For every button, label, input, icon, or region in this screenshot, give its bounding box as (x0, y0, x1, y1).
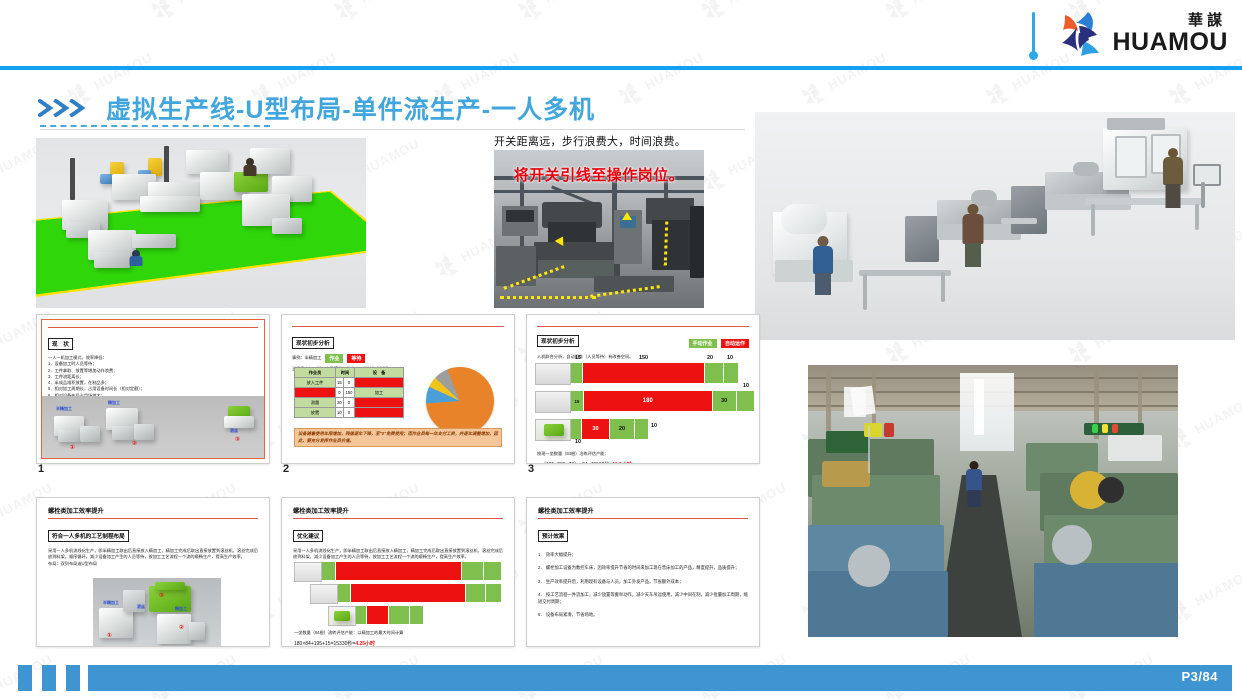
logo-stem-icon (1032, 12, 1035, 56)
thumbnail-number-3: 3 (528, 463, 534, 475)
thumb6-item: 1． 效率大幅提升； (538, 551, 748, 558)
thumb4-body: 采用一人多机流线化生产，即半精加工取出后直接放入精加工，精加工完成后取出直接放置… (48, 548, 258, 561)
thumb5-bar-row-1 (322, 562, 502, 580)
thumb2-tag-wait: 等待 (347, 354, 365, 363)
thumb4-3d-image: 半精加工 精加工 滚丝 ① ② ③ (93, 578, 221, 646)
thumb4-title: 螺栓类加工效率提升 (48, 506, 258, 515)
th: 时间 (336, 368, 355, 378)
u-shape-layout-3d-render (36, 138, 366, 308)
td: 20 (336, 398, 344, 408)
thumb3-bar-row-1 (571, 363, 739, 383)
thumb6-title: 螺栓类加工效率提升 (538, 506, 748, 515)
td (355, 408, 404, 418)
thumb1-mark: ② (132, 440, 137, 447)
formula-highlight: 4.25小时 (355, 641, 375, 647)
title-underline (40, 129, 745, 130)
thumb3-tag-manual: 手动作业 (689, 339, 717, 348)
thumb5-body: 采用一人多机流线化生产，即半精加工取出后直接放入精加工，精加工完成后取出直接放置… (293, 548, 503, 561)
thumb5-row-icon (328, 606, 356, 626)
header-accent-rule (0, 66, 1242, 70)
tick: 10 (743, 383, 749, 389)
thumb1-heading: 现 状 (48, 338, 73, 350)
thumb6-item: 3． 生产效率提升后，利用现有设备与人员，加工外发产品，节省额外成本； (538, 578, 748, 585)
seg: 15 (571, 391, 584, 411)
thumb6-item: 2． 螺栓加工设备为数控车床，因效率提升节省的时间来加工现在普床加工的产品，精度… (538, 564, 748, 571)
td: 15 (336, 378, 344, 388)
thumb2-tag-work: 作业 (325, 354, 343, 363)
chevrons-right-icon (38, 99, 90, 117)
td (295, 388, 336, 398)
table-row: 测量 20 0 (295, 398, 404, 408)
thumb4-mark: ① (107, 632, 112, 639)
thumb5-title: 螺栓类加工效率提升 (293, 506, 503, 515)
thumb1-label: 滚丝 (230, 428, 238, 434)
thumb3-bar-row-2: 15 180 30 (571, 391, 755, 411)
td: 放入工件 (295, 378, 336, 388)
thumb2-pie-chart (426, 367, 494, 435)
thumb6-heading: 预计效果 (538, 530, 568, 542)
thumb1-mark: ① (70, 444, 75, 451)
thumb5-conclusion: 一坐数量（84根）流转评估产能：以精加工的最大时间计算 (294, 630, 403, 636)
thumb3-row-icon (535, 391, 571, 413)
thumb6-item: 5． 设备布局紧凑，节省场地。 (538, 611, 748, 618)
tick: 150 (639, 355, 648, 361)
thumbnail-slide-1[interactable]: 现 状 一人一机加工模式，效率降低： 1．设备加工时人员等待； 2．工件拿取、放… (36, 314, 270, 464)
title-dashed-rule (40, 125, 270, 127)
thumbnail-slide-6[interactable]: 螺栓类加工效率提升 预计效果 1． 效率大幅提升； 2． 螺栓加工设备为数控车床… (526, 497, 760, 647)
thumb5-bar-row-3 (356, 606, 424, 624)
thumb2-table: 作业员 时间 设 备 放入工件 15 0 0 150 加工 测量 (294, 367, 404, 418)
tick: 15 (575, 355, 581, 361)
thumb4-layout-line: 布局：双列布局或U型布局 (48, 561, 258, 567)
td: 0 (343, 378, 354, 388)
thumb3-formula: （195+235+70）×84=42000秒=11.6小时 (541, 461, 632, 464)
footer-bar: P3/84 (88, 665, 1232, 691)
seg: 180 (584, 391, 713, 411)
thumbnail-number-1: 1 (38, 463, 44, 475)
th: 作业员 (295, 368, 336, 378)
td: 0 (343, 398, 354, 408)
table-row: 放入工件 15 0 (295, 378, 404, 388)
tick: 10 (727, 355, 733, 361)
thumb3-row-icon (535, 419, 571, 441)
thumb3-row-icon (535, 363, 571, 385)
thumbnail-number-2: 2 (283, 463, 289, 475)
thumb1-label: 半精加工 (56, 406, 72, 412)
thumb4-label: 精加工 (175, 606, 187, 612)
thumb3-bar-row-3: 30 20 (571, 419, 649, 439)
thumbnail-slide-5[interactable]: 螺栓类加工效率提升 优化建议 采用一人多机流线化生产，即半精加工取出后直接放入精… (281, 497, 515, 647)
td: 150 (343, 388, 354, 398)
formula-highlight: 11.6小时 (612, 462, 631, 464)
td: 放置 (295, 408, 336, 418)
logo-english-name: HUAMOU (1113, 30, 1229, 55)
center-photo-overlay-text: 将开关引线至操作岗位。 (494, 164, 704, 185)
thumbnail-slide-3[interactable]: 现状初步分析 手动作业 自动运作 人机联合分析，自动运作（人员等待）有改善空间。… (526, 314, 760, 464)
seg: 20 (610, 419, 635, 439)
page-title-row: 虚拟生产线-U型布局-单件流生产-一人多机 (38, 90, 595, 126)
slide-footer: P3/84 (0, 665, 1242, 691)
thumb1-mark: ③ (235, 436, 240, 443)
page-number: P3/84 (1182, 669, 1218, 684)
thumb4-label: 滚丝 (137, 604, 145, 610)
thumb5-heading: 优化建议 (293, 530, 323, 542)
thumb2-case-label: 事例：半精加工 (292, 355, 321, 361)
thumb2-note: 设备随着使用年限增加，残值逐年下降，至"0"免费使用；而作业员每一年支付工资，并… (294, 428, 502, 447)
footer-tick-3 (66, 665, 80, 691)
footer-tick-2 (42, 665, 56, 691)
tick: 10 (651, 423, 657, 429)
thumb4-mark: ③ (159, 592, 164, 599)
thumb5-row-icon (294, 562, 322, 582)
td (355, 398, 404, 408)
thumb5-formula: 180×84+195+15=15330秒=4.25小时 (294, 640, 375, 647)
thumb3-heading: 现状初步分析 (537, 335, 579, 347)
virtual-production-line-3d-render (755, 112, 1235, 340)
thumb3-tag-auto: 自动运作 (721, 339, 749, 348)
td (355, 378, 404, 388)
thumb5-row-icon (310, 584, 338, 604)
table-row: 放置 10 0 (295, 408, 404, 418)
center-photo-caption: 开关距离远，步行浪费大，时间浪费。 (494, 133, 720, 149)
thumb4-mark: ② (179, 624, 184, 631)
brand-logo: 華謀 HUAMOU (1032, 6, 1229, 62)
thumb2-heading: 现状初步分析 (292, 337, 334, 349)
td: 加工 (355, 388, 404, 398)
seg: 30 (582, 419, 610, 439)
thumb1-3d-image: 半精加工 精加工 滚丝 ① ② ③ (42, 396, 264, 458)
logo-chinese-name: 華謀 (1113, 13, 1229, 28)
thumbnail-slide-4[interactable]: 螺栓类加工效率提升 符合一人多机的工艺制程布局 采用一人多机流线化生产，即半精加… (36, 497, 270, 647)
thumb4-label: 半精加工 (103, 600, 119, 606)
thumb1-label: 精加工 (108, 400, 120, 406)
td: 测量 (295, 398, 336, 408)
thumb4-heading: 符合一人多机的工艺制程布局 (48, 530, 129, 542)
formula-plain: （195+235+70）×84=42000秒= (541, 462, 612, 464)
seg: 30 (713, 391, 737, 411)
th: 设 备 (355, 368, 404, 378)
td: 10 (336, 408, 344, 418)
footer-tick-1 (18, 665, 32, 691)
thumbnail-slide-2[interactable]: 现状初步分析 事例：半精加工 作业 等待 当设备在加工时，人员等待，约占77%的… (281, 314, 515, 464)
thumb3-conclusion: 按现一坐数量（84根）冶练评估产能： (537, 451, 609, 457)
center-photo-press-line: 将开关引线至操作岗位。 (494, 150, 704, 308)
thumb6-item: 4． 按工艺流程一件流加工，减少放置等搬举动作，减少天车吊运使用，减少中间在制，… (538, 591, 748, 606)
formula-plain: 180×84+195+15=15330秒= (294, 641, 355, 647)
td: 0 (336, 388, 344, 398)
tick: 20 (707, 355, 713, 361)
factory-workshop-photo (808, 365, 1178, 637)
td: 0 (343, 408, 354, 418)
table-row: 0 150 加工 (295, 388, 404, 398)
thumb5-bar-row-2 (338, 584, 502, 602)
tick: 10 (575, 439, 581, 445)
huamou-mark-icon (1053, 9, 1109, 59)
page-title: 虚拟生产线-U型布局-单件流生产-一人多机 (106, 90, 595, 126)
